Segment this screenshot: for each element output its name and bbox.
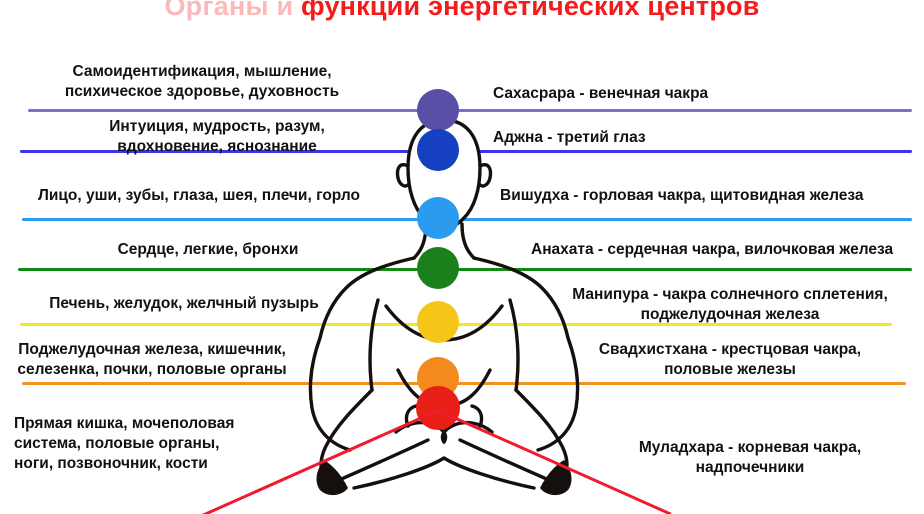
right-label-svadhisthana: Свадхистхана - крестцовая чакра, половые… [545, 340, 915, 380]
chakra-dot-vishuddha [417, 197, 459, 239]
left-label-vishuddha-line-1: Лицо, уши, зубы, глаза, шея, плечи, горл… [16, 186, 382, 206]
left-label-ajna: Интуиция, мудрость, разум, вдохновение, … [72, 117, 362, 157]
left-label-anahata-line-1: Сердце, легкие, бронхи [58, 240, 358, 260]
left-label-muladhara-line-1: Прямая кишка, мочеполовая [14, 414, 314, 434]
right-label-sahasrara: Сахасрара - венечная чакра [493, 84, 913, 104]
left-label-manipura-line-1: Печень, желудок, желчный пузырь [24, 294, 344, 314]
right-label-ajna: Аджна - третий глаз [493, 128, 913, 148]
page-title-faded-prefix: Органы и [164, 0, 293, 21]
left-label-anahata: Сердце, легкие, бронхи [58, 240, 358, 260]
left-label-sahasrara-line-1: Самоидентификация, мышление, [42, 62, 362, 82]
left-label-svadhisthana-line-1: Поджелудочная железа, кишечник, [0, 340, 312, 360]
chakra-dot-ajna [417, 129, 459, 171]
right-label-manipura-line-2: поджелудочная железа [545, 305, 915, 325]
right-label-svadhisthana-line-1: Свадхистхана - крестцовая чакра, [545, 340, 915, 360]
chakra-diagram-page: Органы и функции энергетических центров [0, 0, 924, 514]
chakra-dot-sahasrara [417, 89, 459, 131]
left-label-sahasrara-line-2: психическое здоровье, духовность [42, 82, 362, 102]
right-label-anahata: Анахата - сердечная чакра, вилочковая же… [531, 240, 924, 260]
right-label-muladhara-line-2: надпочечники [600, 458, 900, 478]
right-label-anahata-line-1: Анахата - сердечная чакра, вилочковая же… [531, 240, 924, 260]
right-label-ajna-line-1: Аджна - третий глаз [493, 128, 913, 148]
left-label-muladhara: Прямая кишка, мочеполовая система, полов… [14, 414, 314, 474]
left-label-ajna-line-1: Интуиция, мудрость, разум, [72, 117, 362, 137]
left-label-vishuddha: Лицо, уши, зубы, глаза, шея, плечи, горл… [16, 186, 382, 206]
right-label-manipura-line-1: Манипура - чакра солнечного сплетения, [545, 285, 915, 305]
right-label-svadhisthana-line-2: половые железы [545, 360, 915, 380]
right-label-muladhara: Муладхара - корневая чакра, надпочечники [600, 438, 900, 478]
page-title: Органы и функции энергетических центров [0, 0, 924, 28]
right-label-manipura: Манипура - чакра солнечного сплетения, п… [545, 285, 915, 325]
left-label-ajna-line-2: вдохновение, яснознание [72, 137, 362, 157]
right-label-muladhara-line-1: Муладхара - корневая чакра, [600, 438, 900, 458]
left-label-muladhara-line-3: ноги, позвоночник, кости [14, 454, 314, 474]
left-label-svadhisthana-line-2: селезенка, почки, половые органы [0, 360, 312, 380]
chakra-dot-anahata [417, 247, 459, 289]
chakra-dot-manipura [417, 301, 459, 343]
left-label-manipura: Печень, желудок, желчный пузырь [24, 294, 344, 314]
page-title-main: функции энергетических центров [301, 0, 760, 21]
right-label-vishuddha-line-1: Вишудха - горловая чакра, щитовидная жел… [500, 186, 924, 206]
left-label-svadhisthana: Поджелудочная железа, кишечник, селезенк… [0, 340, 312, 380]
left-label-muladhara-line-2: система, половые органы, [14, 434, 314, 454]
left-label-sahasrara: Самоидентификация, мышление, психическое… [42, 62, 362, 102]
right-label-sahasrara-line-1: Сахасрара - венечная чакра [493, 84, 913, 104]
right-label-vishuddha: Вишудха - горловая чакра, щитовидная жел… [500, 186, 924, 206]
